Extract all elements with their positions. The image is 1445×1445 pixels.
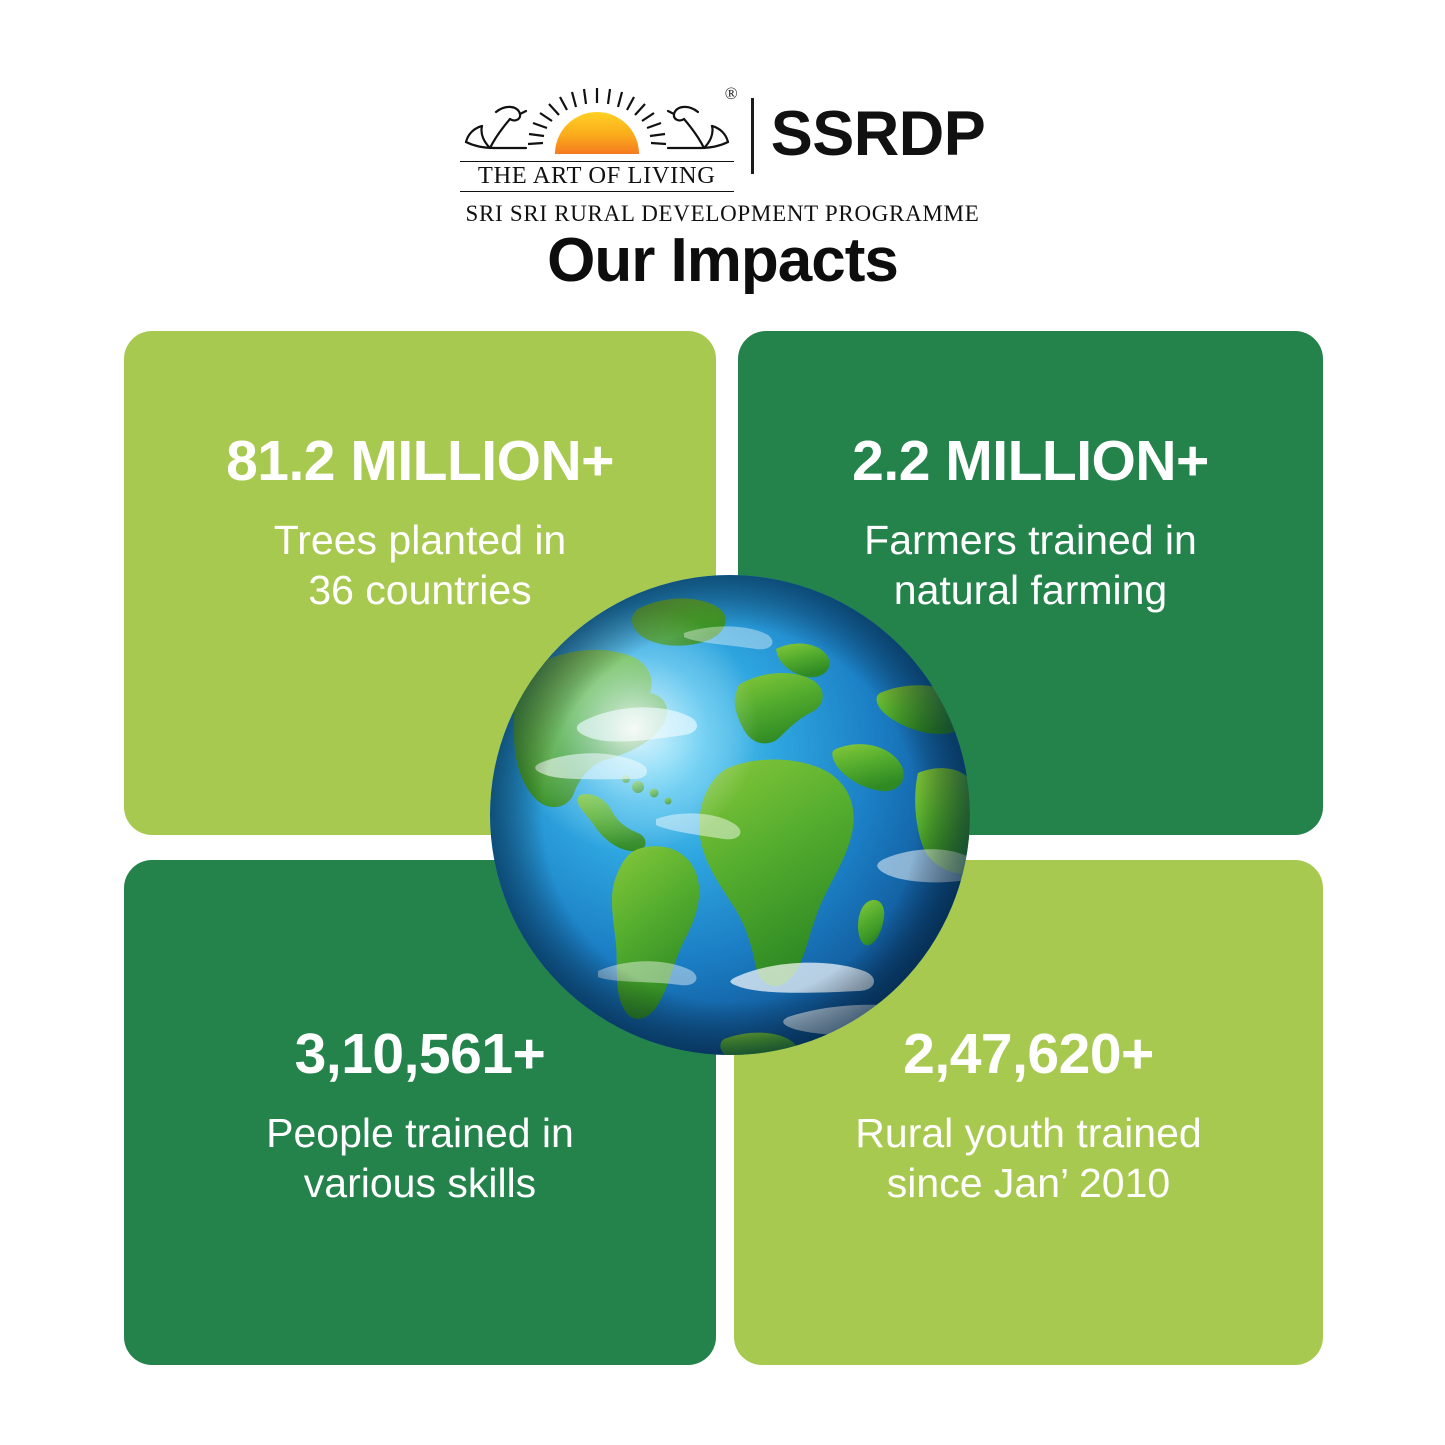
stat-value: 81.2 MILLION+ (124, 430, 716, 493)
page-title: Our Impacts (0, 225, 1445, 296)
brand-header: ® THE ART OF LIVING SSRDP SRI SRI RURAL … (0, 86, 1445, 227)
impact-infographic: ® THE ART OF LIVING SSRDP SRI SRI RURAL … (0, 0, 1445, 1445)
registered-trademark-icon: ® (725, 84, 738, 104)
logo-rules: THE ART OF LIVING (460, 161, 734, 192)
stat-value: 2.2 MILLION+ (738, 430, 1323, 493)
earth-globe-icon (488, 573, 972, 1057)
sun-with-swans-icon: ® (460, 86, 734, 160)
stat-label: Rural youth trained since Jan’ 2010 (734, 1108, 1323, 1208)
stat-label: People trained in various skills (124, 1108, 716, 1208)
program-abbreviation: SSRDP (771, 103, 986, 166)
program-tagline: SRI SRI RURAL DEVELOPMENT PROGRAMME (466, 201, 980, 227)
art-of-living-logo: ® THE ART OF LIVING (460, 86, 734, 192)
org-name: THE ART OF LIVING (460, 163, 734, 189)
logo-divider (751, 98, 754, 174)
